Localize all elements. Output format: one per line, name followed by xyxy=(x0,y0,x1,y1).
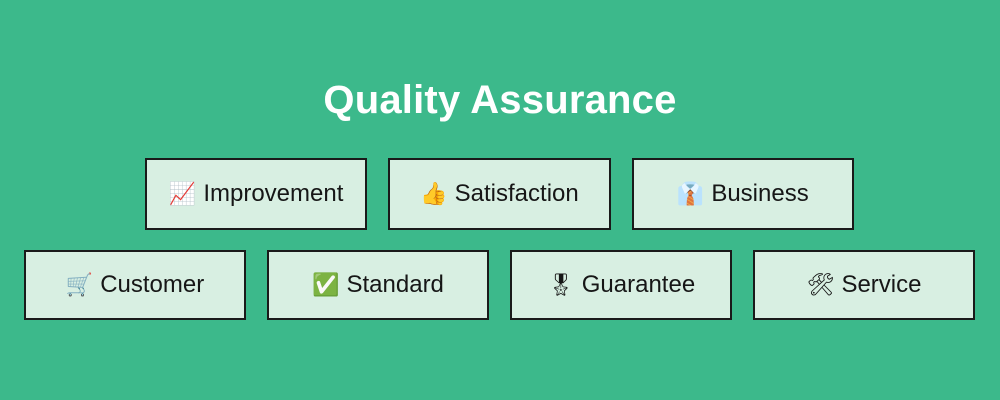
card-text: Guarantee xyxy=(582,271,695,299)
necktie-icon: 👔 xyxy=(677,183,704,205)
thumbs-up-icon: 👍 xyxy=(420,183,447,205)
card-row-top: 📈 Improvement 👍 Satisfaction 👔 Business xyxy=(145,158,854,230)
card-label: 👔 Business xyxy=(677,180,809,208)
card-business[interactable]: 👔 Business xyxy=(632,158,854,230)
card-text: Standard xyxy=(347,271,444,299)
card-text: Improvement xyxy=(203,180,343,208)
card-label: 🛠 Service xyxy=(807,271,922,299)
card-satisfaction[interactable]: 👍 Satisfaction xyxy=(388,158,610,230)
card-label: ✅ Standard xyxy=(312,271,444,299)
military-medal-icon: 🎖 xyxy=(547,274,575,296)
shopping-cart-icon: 🛒 xyxy=(66,274,93,296)
card-text: Business xyxy=(711,180,808,208)
card-label: 🎖 Guarantee xyxy=(547,271,695,299)
check-mark-button-icon: ✅ xyxy=(312,274,339,296)
card-customer[interactable]: 🛒 Customer xyxy=(24,250,246,320)
card-row-bottom: 🛒 Customer ✅ Standard 🎖 Guarantee 🛠 Serv… xyxy=(24,250,975,320)
card-text: Service xyxy=(841,271,921,299)
chart-increasing-icon: 📈 xyxy=(169,183,196,205)
page-title: Quality Assurance xyxy=(0,76,1000,124)
card-text: Customer xyxy=(100,271,204,299)
card-text: Satisfaction xyxy=(455,180,579,208)
card-guarantee[interactable]: 🎖 Guarantee xyxy=(510,250,732,320)
quality-assurance-poster: Quality Assurance 📈 Improvement 👍 Satisf… xyxy=(0,0,1000,400)
card-label: 👍 Satisfaction xyxy=(420,180,578,208)
card-label: 📈 Improvement xyxy=(169,180,343,208)
card-improvement[interactable]: 📈 Improvement xyxy=(145,158,367,230)
card-label: 🛒 Customer xyxy=(66,271,204,299)
hammer-and-wrench-icon: 🛠 xyxy=(807,274,835,296)
card-standard[interactable]: ✅ Standard xyxy=(267,250,489,320)
card-service[interactable]: 🛠 Service xyxy=(753,250,975,320)
